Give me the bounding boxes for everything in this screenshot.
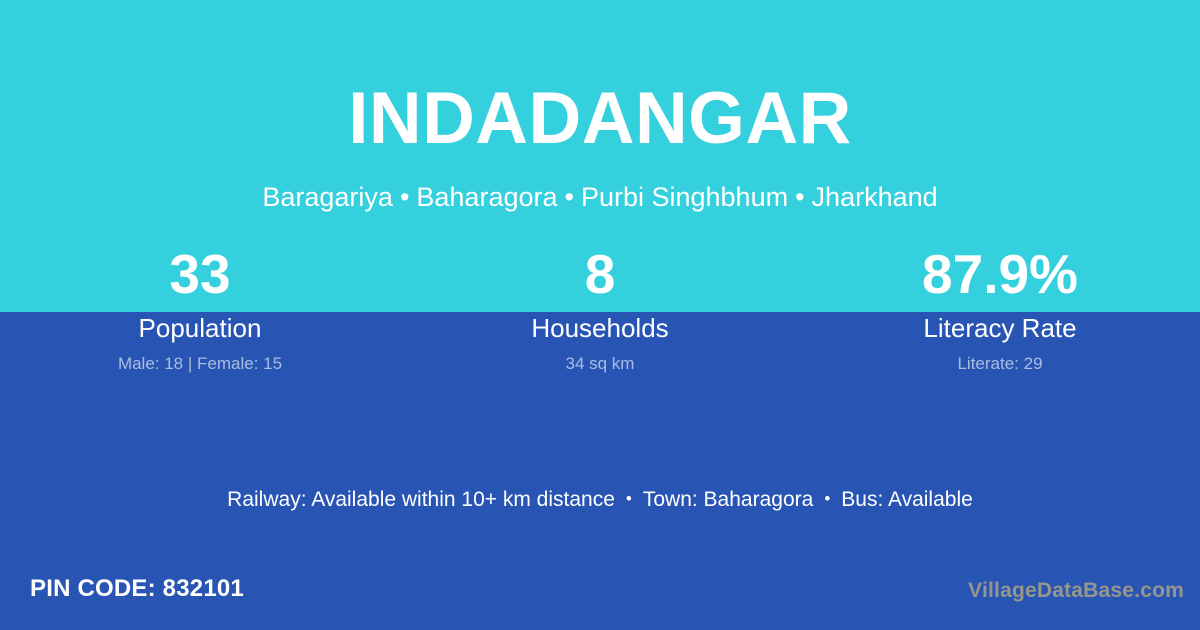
breadcrumb-separator-2: • bbox=[558, 182, 581, 212]
breadcrumb-panchayat: Baragariya bbox=[262, 182, 393, 212]
stat-literacy-rate: 87.9% Literacy Rate Literate: 29 bbox=[800, 243, 1200, 393]
stat-population-label: Population bbox=[0, 313, 400, 343]
breadcrumb: Baragariya•Baharagora•Purbi Singhbhum•Jh… bbox=[0, 183, 1200, 213]
amenity-separator-1: • bbox=[615, 489, 643, 508]
village-info-card: INDADANGAR Baragariya•Baharagora•Purbi S… bbox=[0, 0, 1200, 630]
stat-households-label: Households bbox=[400, 313, 800, 343]
pin-code: PIN CODE: 832101 bbox=[30, 572, 244, 606]
amenity-separator-2: • bbox=[813, 489, 841, 508]
stat-households: 8 Households 34 sq km bbox=[400, 243, 800, 393]
amenity-railway: Railway: Available within 10+ km distanc… bbox=[227, 488, 615, 511]
amenity-town: Town: Baharagora bbox=[643, 488, 813, 511]
amenity-bus: Bus: Available bbox=[841, 488, 973, 511]
breadcrumb-state: Jharkhand bbox=[812, 182, 938, 212]
site-brand: VillageDataBase.com bbox=[968, 576, 1184, 606]
breadcrumb-block: Baharagora bbox=[416, 182, 557, 212]
stat-households-sub: 34 sq km bbox=[400, 353, 800, 375]
amenities-line: Railway: Available within 10+ km distanc… bbox=[0, 485, 1200, 516]
stat-literacy-rate-sub: Literate: 29 bbox=[800, 353, 1200, 375]
breadcrumb-separator-1: • bbox=[393, 182, 416, 212]
page-title: INDADANGAR bbox=[0, 82, 1200, 155]
stats-row: 33 Population Male: 18 | Female: 15 8 Ho… bbox=[0, 243, 1200, 393]
stat-households-value: 8 bbox=[400, 243, 800, 309]
stat-literacy-rate-label: Literacy Rate bbox=[800, 313, 1200, 343]
stat-literacy-rate-value: 87.9% bbox=[800, 243, 1200, 309]
stat-population-sub: Male: 18 | Female: 15 bbox=[0, 353, 400, 375]
breadcrumb-district: Purbi Singhbhum bbox=[581, 182, 788, 212]
footer: PIN CODE: 832101 VillageDataBase.com bbox=[0, 572, 1200, 618]
stat-population: 33 Population Male: 18 | Female: 15 bbox=[0, 243, 400, 393]
breadcrumb-separator-3: • bbox=[788, 182, 811, 212]
stat-population-value: 33 bbox=[0, 243, 400, 309]
